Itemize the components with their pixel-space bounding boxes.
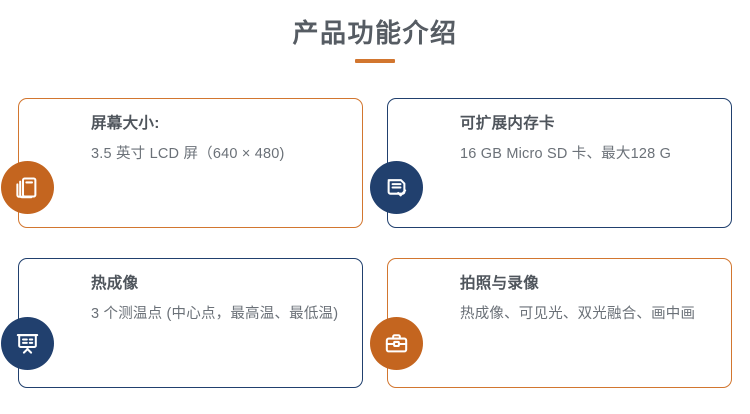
page-title: 产品功能介绍 [0, 16, 750, 50]
card-description: 热成像、可见光、双光融合、画中画 [460, 302, 715, 327]
feature-card-thermal-imaging[interactable]: 热成像 3 个测温点 (中心点，最高温、最低温) [18, 258, 363, 388]
card-title: 可扩展内存卡 [460, 113, 715, 135]
page-header: 产品功能介绍 [0, 16, 750, 63]
document-check-icon [370, 161, 423, 214]
feature-card-expandable-memory-card[interactable]: 可扩展内存卡 16 GB Micro SD 卡、最大128 G [387, 98, 732, 228]
card-title: 热成像 [91, 273, 346, 295]
product-features-page: 产品功能介绍 屏幕大小: 3.5 英寸 LCD 屏（640 × 480) [0, 0, 750, 414]
feature-card-photo-and-video[interactable]: 拍照与录像 热成像、可见光、双光融合、画中画 [387, 258, 732, 388]
presentation-board-icon [1, 317, 54, 370]
card-title: 拍照与录像 [460, 273, 715, 295]
card-description: 16 GB Micro SD 卡、最大128 G [460, 142, 715, 167]
card-title: 屏幕大小: [91, 113, 346, 135]
feature-card-screen-size[interactable]: 屏幕大小: 3.5 英寸 LCD 屏（640 × 480) [18, 98, 363, 228]
screen-stack-icon [1, 161, 54, 214]
feature-card-grid: 屏幕大小: 3.5 英寸 LCD 屏（640 × 480) 可扩展内存卡 16 … [18, 98, 732, 388]
card-description: 3 个测温点 (中心点，最高温、最低温) [91, 302, 346, 327]
card-description: 3.5 英寸 LCD 屏（640 × 480) [91, 142, 346, 167]
title-underline [355, 59, 395, 63]
briefcase-icon [370, 317, 423, 370]
